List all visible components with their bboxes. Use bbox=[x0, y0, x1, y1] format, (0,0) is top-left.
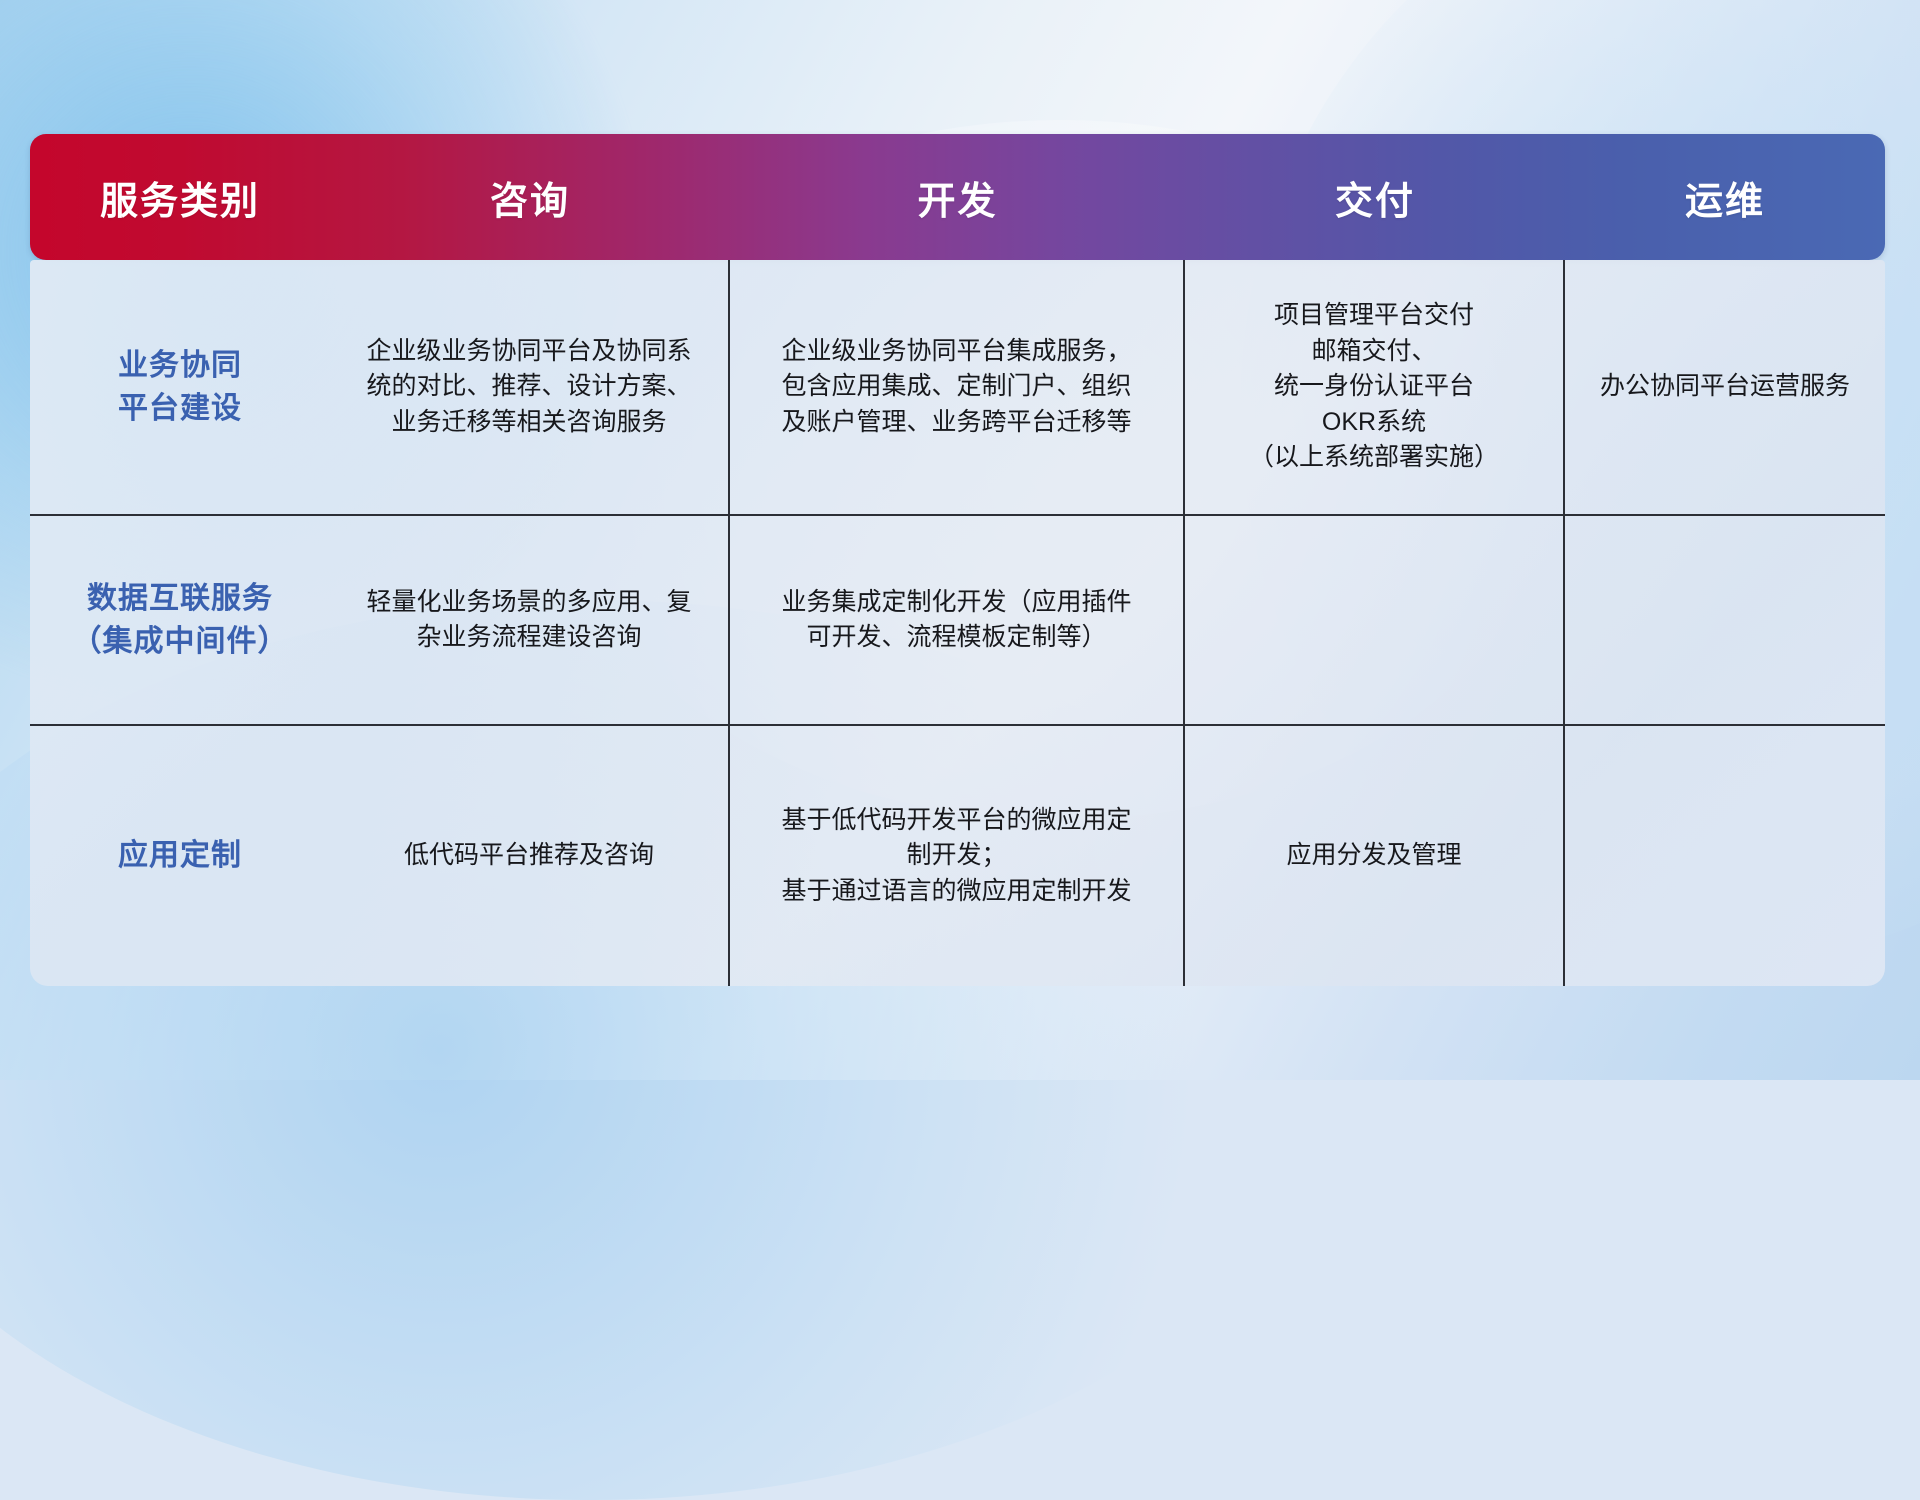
table-row: 应用定制 低代码平台推荐及咨询 基于低代码开发平台的微应用定 制开发； 基于通过… bbox=[30, 726, 1885, 986]
cell-consulting-row3: 低代码平台推荐及咨询 bbox=[330, 726, 730, 986]
cell-operations-row1: 办公协同平台运营服务 bbox=[1565, 260, 1885, 514]
service-matrix-table: 服务类别 咨询 开发 交付 运维 业务协同 平台建设 企业级业务协同平台及协同系… bbox=[30, 134, 1885, 986]
column-header-development: 开发 bbox=[730, 134, 1185, 260]
table-row: 数据互联服务 （集成中间件） 轻量化业务场景的多应用、复 杂业务流程建设咨询 业… bbox=[30, 516, 1885, 726]
cell-consulting-row2: 轻量化业务场景的多应用、复 杂业务流程建设咨询 bbox=[330, 516, 730, 724]
column-header-category: 服务类别 bbox=[30, 134, 330, 260]
row-label-business-collaboration: 业务协同 平台建设 bbox=[30, 260, 330, 514]
row-label-app-customization: 应用定制 bbox=[30, 726, 330, 986]
column-header-delivery: 交付 bbox=[1185, 134, 1565, 260]
column-header-operations: 运维 bbox=[1565, 134, 1885, 260]
cell-development-row2: 业务集成定制化开发（应用插件 可开发、流程模板定制等） bbox=[730, 516, 1185, 724]
cell-development-row1: 企业级业务协同平台集成服务， 包含应用集成、定制门户、组织 及账户管理、业务跨平… bbox=[730, 260, 1185, 514]
cell-development-row3: 基于低代码开发平台的微应用定 制开发； 基于通过语言的微应用定制开发 bbox=[730, 726, 1185, 986]
cell-operations-row2 bbox=[1565, 516, 1885, 724]
table-body: 业务协同 平台建设 企业级业务协同平台及协同系 统的对比、推荐、设计方案、 业务… bbox=[30, 260, 1885, 986]
table-row: 业务协同 平台建设 企业级业务协同平台及协同系 统的对比、推荐、设计方案、 业务… bbox=[30, 260, 1885, 516]
cell-consulting-row1: 企业级业务协同平台及协同系 统的对比、推荐、设计方案、 业务迁移等相关咨询服务 bbox=[330, 260, 730, 514]
cell-delivery-row2 bbox=[1185, 516, 1565, 724]
table-header-row: 服务类别 咨询 开发 交付 运维 bbox=[30, 134, 1885, 260]
column-header-consulting: 咨询 bbox=[330, 134, 730, 260]
cell-operations-row3 bbox=[1565, 726, 1885, 986]
cell-delivery-row3: 应用分发及管理 bbox=[1185, 726, 1565, 986]
cell-delivery-row1: 项目管理平台交付 邮箱交付、 统一身份认证平台 OKR系统 （以上系统部署实施） bbox=[1185, 260, 1565, 514]
row-label-data-integration: 数据互联服务 （集成中间件） bbox=[30, 516, 330, 724]
